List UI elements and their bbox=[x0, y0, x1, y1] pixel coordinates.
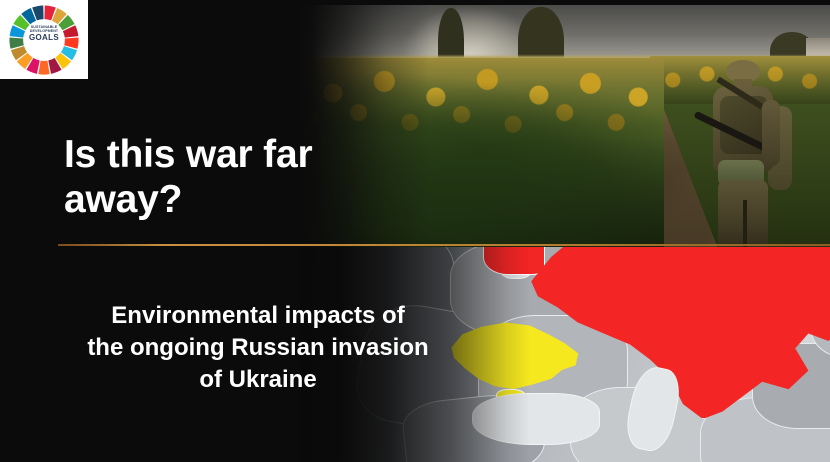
sunflower-field-photo bbox=[300, 0, 830, 247]
sdg-logo: SUSTAINABLE DEVELOPMENT GOALS bbox=[0, 0, 88, 79]
soldier-figure bbox=[696, 60, 792, 247]
presentation-slide: SUSTAINABLE DEVELOPMENT GOALS Is this wa… bbox=[0, 0, 830, 462]
sdg-logo-line3: GOALS bbox=[0, 34, 88, 42]
slide-title: Is this war far away? bbox=[64, 132, 334, 222]
sdg-logo-text: SUSTAINABLE DEVELOPMENT GOALS bbox=[0, 26, 88, 42]
soldier-leg-gap bbox=[743, 200, 747, 247]
slide-subtitle: Environmental impacts of the ongoing Rus… bbox=[58, 300, 458, 396]
soldier-arm bbox=[762, 100, 780, 166]
gold-divider-line bbox=[58, 244, 830, 246]
photo-top-band bbox=[300, 0, 830, 5]
